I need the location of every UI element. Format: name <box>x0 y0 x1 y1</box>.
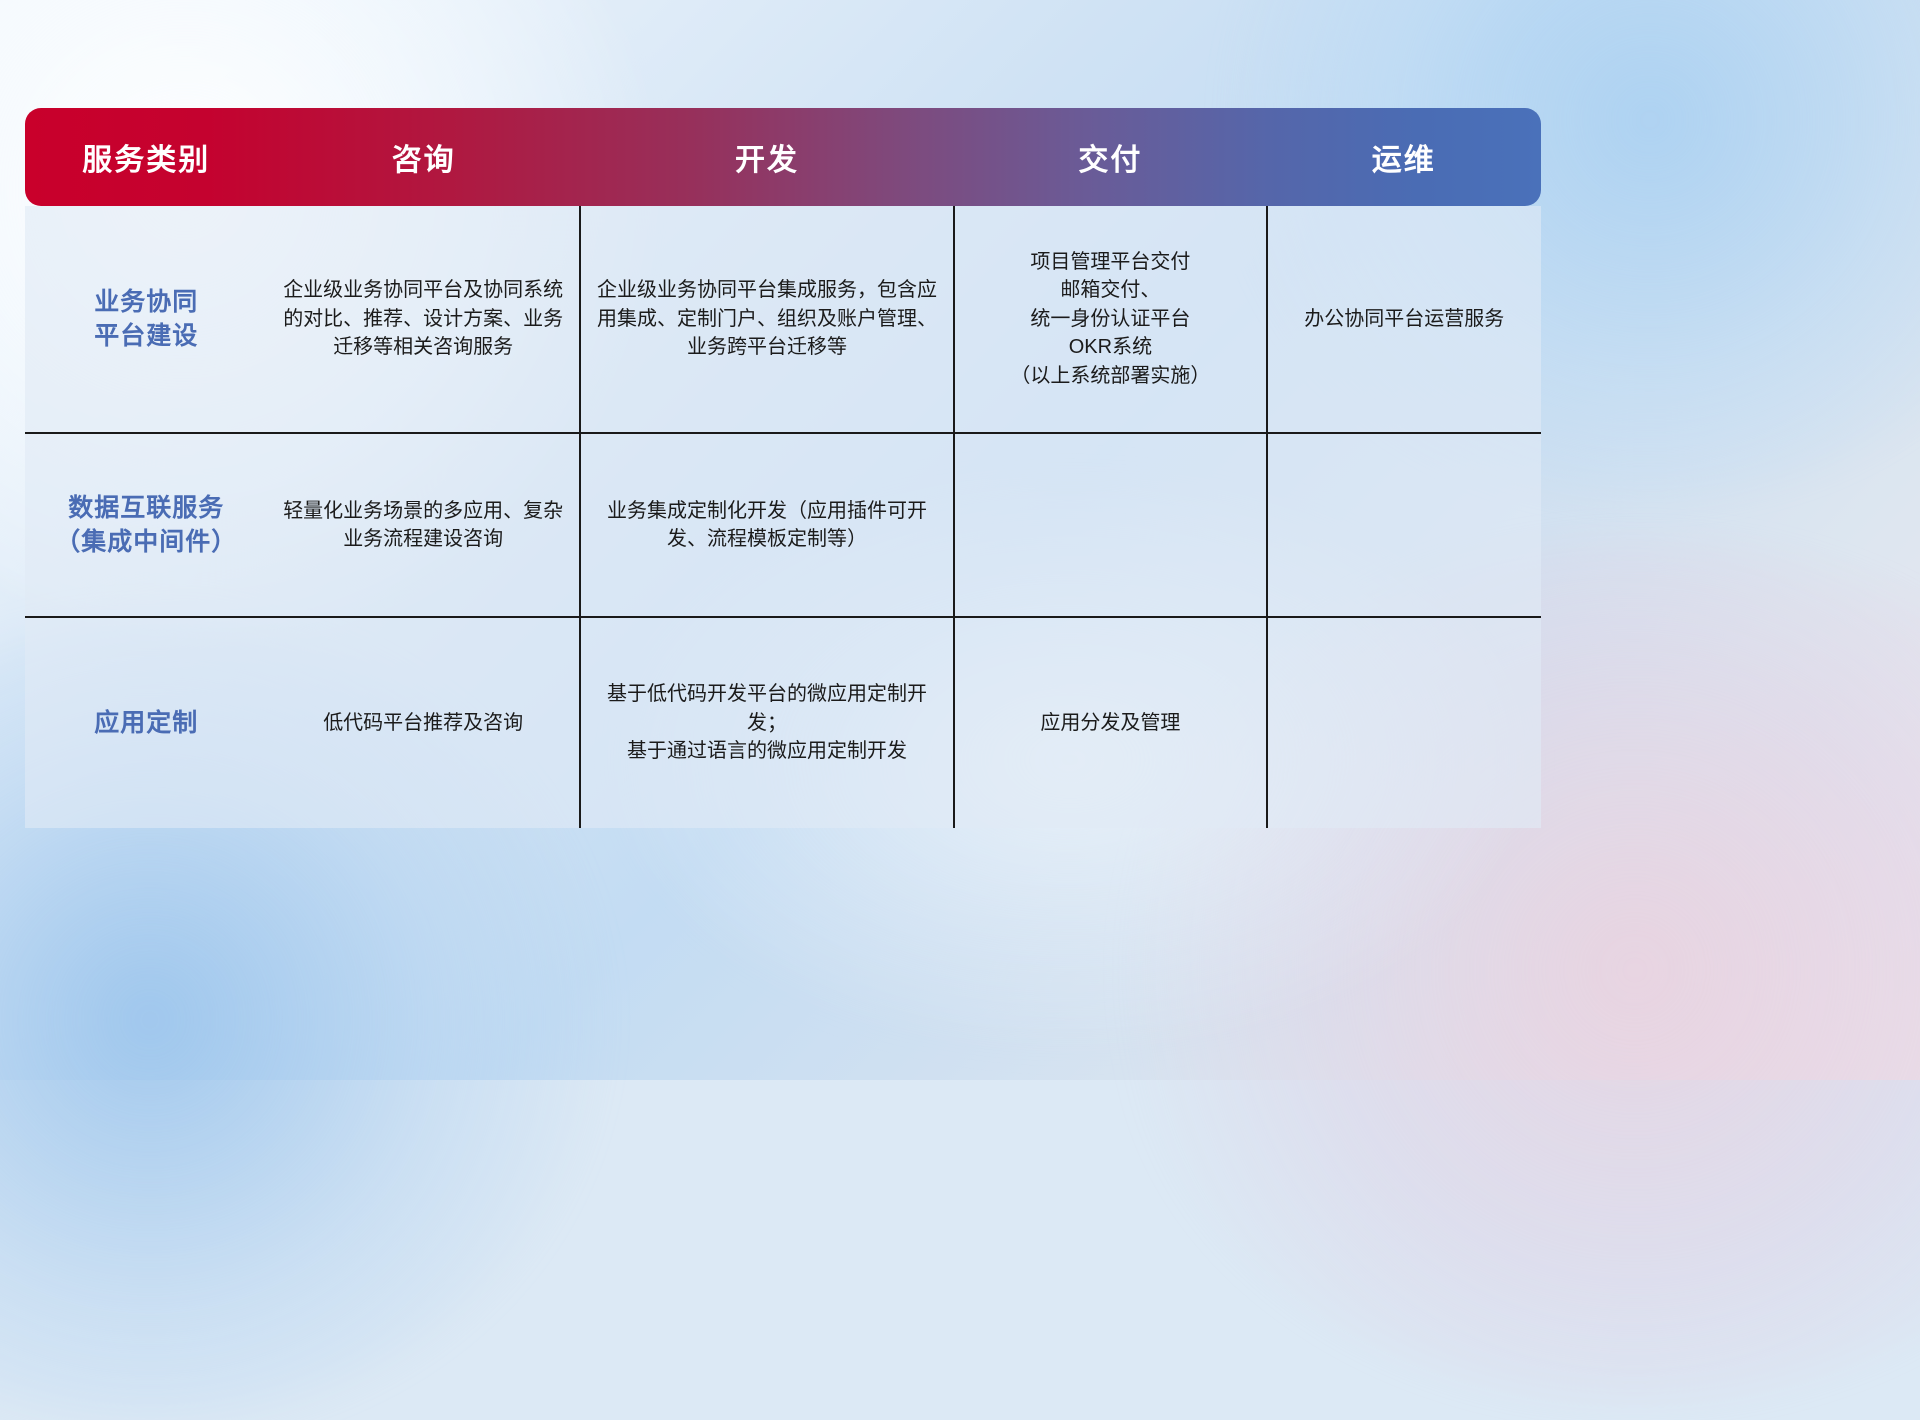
table-row: 数据互联服务 （集成中间件） 轻量化业务场景的多应用、复杂业务流程建设咨询 业务… <box>25 433 1541 617</box>
delivery-line: 统一身份认证平台 <box>969 305 1251 333</box>
cell-consulting-row1: 企业级业务协同平台及协同系统的对比、推荐、设计方案、业务迁移等相关咨询服务 <box>268 206 580 433</box>
delivery-line: （以上系统部署实施） <box>969 362 1251 390</box>
development-line: 基于通过语言的微应用定制开发 <box>595 737 939 765</box>
row-category-data-interconnect: 数据互联服务 （集成中间件） <box>25 433 268 617</box>
cell-operations-row1: 办公协同平台运营服务 <box>1267 206 1541 433</box>
category-line: （集成中间件） <box>39 525 254 560</box>
table-body: 业务协同 平台建设 企业级业务协同平台及协同系统的对比、推荐、设计方案、业务迁移… <box>25 206 1541 828</box>
column-header-consulting: 咨询 <box>268 108 580 206</box>
development-line: 基于低代码开发平台的微应用定制开发； <box>595 680 939 737</box>
column-header-delivery: 交付 <box>954 108 1266 206</box>
category-line: 平台建设 <box>39 319 254 354</box>
column-header-category-label: 服务类别 <box>25 135 268 179</box>
delivery-line: OKR系统 <box>969 333 1251 361</box>
column-header-operations: 运维 <box>1267 108 1541 206</box>
cell-delivery-row1: 项目管理平台交付 邮箱交付、 统一身份认证平台 OKR系统 （以上系统部署实施） <box>954 206 1266 433</box>
row-category-app-customization: 应用定制 <box>25 617 268 828</box>
delivery-line: 邮箱交付、 <box>969 276 1251 304</box>
column-header-development: 开发 <box>580 108 954 206</box>
service-matrix-table: 服务类别 咨询 开发 交付 运维 业务协同 <box>25 108 1541 828</box>
cell-delivery-row3: 应用分发及管理 <box>954 617 1266 828</box>
cell-development-row1: 企业级业务协同平台集成服务，包含应用集成、定制门户、组织及账户管理、业务跨平台迁… <box>580 206 954 433</box>
cell-delivery-row2 <box>954 433 1266 617</box>
cell-operations-row3 <box>1267 617 1541 828</box>
column-header-consulting-label: 咨询 <box>268 135 580 179</box>
table-row: 业务协同 平台建设 企业级业务协同平台及协同系统的对比、推荐、设计方案、业务迁移… <box>25 206 1541 433</box>
cell-development-row2: 业务集成定制化开发（应用插件可开发、流程模板定制等） <box>580 433 954 617</box>
column-header-delivery-label: 交付 <box>954 135 1266 179</box>
cell-consulting-row2: 轻量化业务场景的多应用、复杂业务流程建设咨询 <box>268 433 580 617</box>
cell-operations-row2 <box>1267 433 1541 617</box>
table-header: 服务类别 咨询 开发 交付 运维 <box>25 108 1541 206</box>
cell-consulting-row3: 低代码平台推荐及咨询 <box>268 617 580 828</box>
delivery-line: 项目管理平台交付 <box>969 248 1251 276</box>
column-header-operations-label: 运维 <box>1267 135 1541 179</box>
cell-development-row3: 基于低代码开发平台的微应用定制开发； 基于通过语言的微应用定制开发 <box>580 617 954 828</box>
service-matrix-container: 服务类别 咨询 开发 交付 运维 业务协同 <box>25 108 1541 828</box>
category-line: 数据互联服务 <box>39 491 254 526</box>
delivery-line: 应用分发及管理 <box>969 709 1251 737</box>
table-row: 应用定制 低代码平台推荐及咨询 基于低代码开发平台的微应用定制开发； 基于通过语… <box>25 617 1541 828</box>
category-line: 业务协同 <box>39 285 254 320</box>
category-line: 应用定制 <box>39 706 254 741</box>
table-header-row: 服务类别 咨询 开发 交付 运维 <box>25 108 1541 206</box>
column-header-category: 服务类别 <box>25 108 268 206</box>
column-header-development-label: 开发 <box>580 135 954 179</box>
row-category-business-collaboration: 业务协同 平台建设 <box>25 206 268 433</box>
